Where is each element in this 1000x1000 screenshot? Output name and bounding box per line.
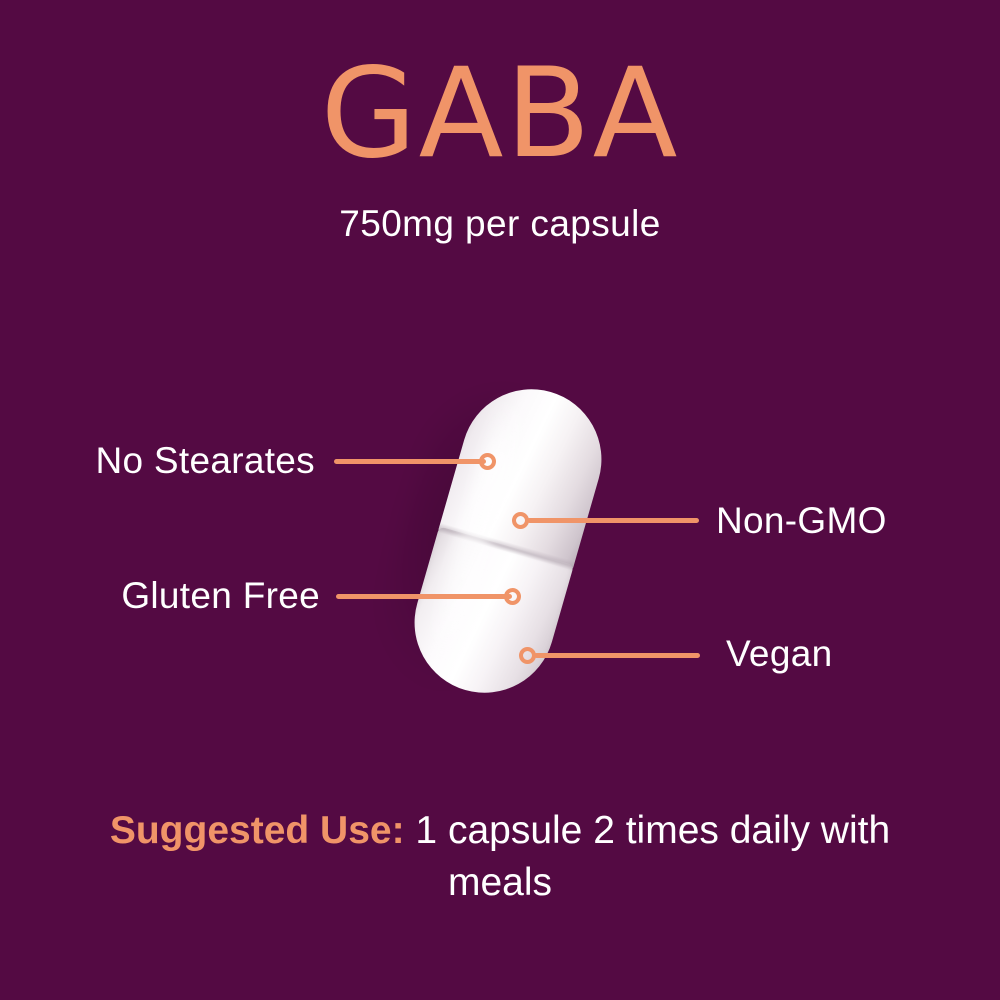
callout-dot-gluten-free bbox=[504, 588, 521, 605]
callout-dot-non-gmo bbox=[512, 512, 529, 529]
suggested-use: Suggested Use: 1 capsule 2 times daily w… bbox=[60, 805, 940, 909]
callout-line-gluten-free bbox=[336, 594, 512, 599]
callout-line-vegan bbox=[534, 653, 700, 658]
callout-label-no-stearates: No Stearates bbox=[0, 441, 315, 481]
suggested-use-text: 1 capsule 2 times daily with meals bbox=[405, 809, 891, 904]
callout-dot-vegan bbox=[519, 647, 536, 664]
suggested-use-heading: Suggested Use: bbox=[110, 809, 405, 852]
callout-label-vegan: Vegan bbox=[726, 634, 832, 674]
product-infographic: GABA 750mg per capsule No Stearates Non-… bbox=[0, 0, 1000, 1000]
callout-label-gluten-free: Gluten Free bbox=[0, 576, 320, 616]
dosage-subtitle: 750mg per capsule bbox=[0, 202, 1000, 246]
callout-line-no-stearates bbox=[334, 459, 486, 464]
callout-label-non-gmo: Non-GMO bbox=[716, 501, 887, 541]
callout-line-non-gmo bbox=[527, 518, 699, 523]
page-title: GABA bbox=[0, 52, 1000, 176]
callout-dot-no-stearates bbox=[479, 453, 496, 470]
